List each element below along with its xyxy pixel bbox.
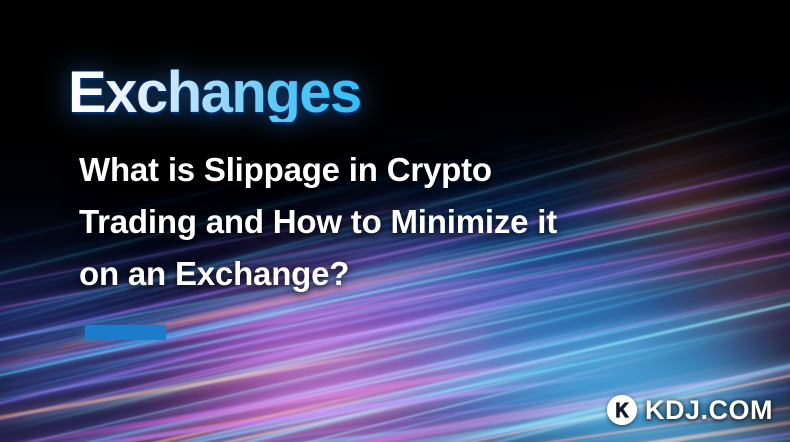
article-hero-banner: Exchanges What is Slippage in Crypto Tra… bbox=[0, 0, 790, 442]
page-title-line-2: Trading and How to Minimize it bbox=[79, 196, 699, 248]
page-title: What is Slippage in Crypto Trading and H… bbox=[79, 144, 699, 300]
brand-name: KDJ.COM bbox=[645, 397, 773, 424]
category-label: Exchanges bbox=[68, 64, 361, 122]
page-title-line-3: on an Exchange? bbox=[79, 248, 699, 300]
accent-bar bbox=[85, 325, 166, 340]
kdj-circle-k-logo-icon bbox=[607, 395, 637, 425]
brand-logo[interactable]: KDJ.COM bbox=[607, 395, 773, 425]
page-title-line-1: What is Slippage in Crypto bbox=[79, 144, 699, 196]
